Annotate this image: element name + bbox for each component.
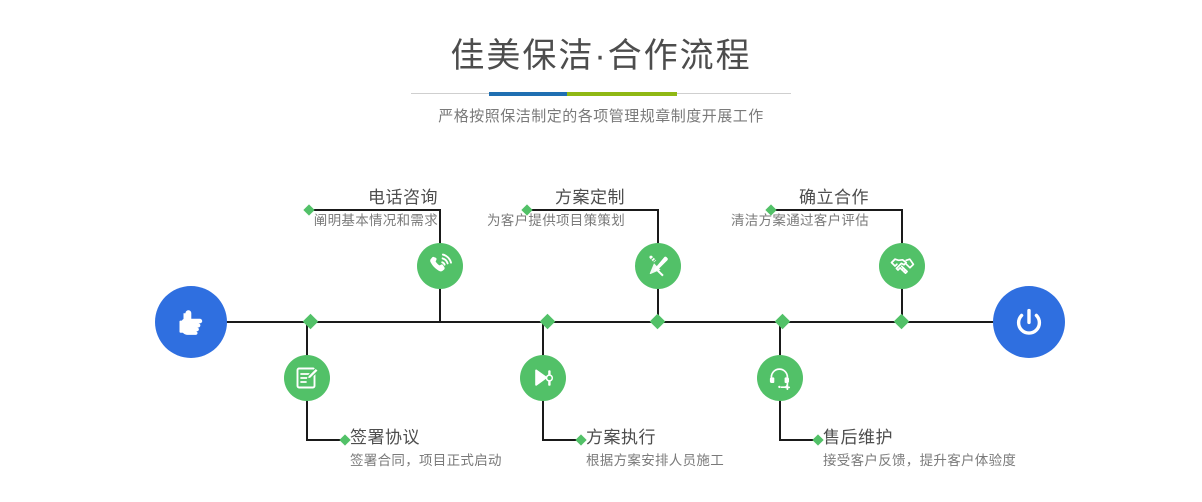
play-forward-icon [530, 365, 556, 391]
connector-horizontal-5 [772, 209, 903, 211]
handshake-icon [889, 253, 916, 280]
step-icon-4 [520, 355, 566, 401]
axis-diamond-3 [650, 314, 666, 330]
timeline-start-node [155, 286, 227, 358]
label-diamond-4 [575, 434, 586, 445]
step-desc-3: 为客户提供项目策策划 [487, 210, 625, 232]
step-icon-2 [284, 355, 330, 401]
step-icon-3 [635, 243, 681, 289]
power-icon [1009, 302, 1049, 342]
step-title-1: 电话咨询 [314, 186, 438, 210]
document-sign-icon [294, 365, 320, 391]
step-desc-2: 签署合同，项目正式启动 [350, 450, 502, 472]
process-timeline: 电话咨询 阐明基本情况和需求 [0, 0, 1202, 502]
step-title-6: 售后维护 [823, 426, 1016, 450]
step-icon-5 [879, 243, 925, 289]
step-desc-6: 接受客户反馈，提升客户体验度 [823, 450, 1016, 472]
phone-call-icon [426, 252, 454, 280]
connector-horizontal-1 [311, 209, 441, 211]
label-diamond-2 [339, 434, 350, 445]
step-title-2: 签署协议 [350, 426, 502, 450]
pencil-ruler-icon [645, 253, 671, 279]
timeline-end-node [993, 286, 1065, 358]
step-label-4: 方案执行 根据方案安排人员施工 [586, 426, 724, 472]
flow-diagram-page: 佳美保洁·合作流程 严格按照保洁制定的各项管理规章制度开展工作 [0, 0, 1202, 502]
axis-diamond-4 [775, 314, 791, 330]
connector-horizontal-3 [528, 209, 659, 211]
step-icon-6 [757, 355, 803, 401]
label-diamond-6 [812, 434, 823, 445]
step-title-3: 方案定制 [487, 186, 625, 210]
step-icon-1 [417, 243, 463, 289]
step-title-5: 确立合作 [731, 186, 869, 210]
pointing-hand-icon [171, 302, 211, 342]
step-desc-1: 阐明基本情况和需求 [314, 210, 438, 232]
step-desc-4: 根据方案安排人员施工 [586, 450, 724, 472]
axis-diamond-5 [894, 314, 910, 330]
step-label-2: 签署协议 签署合同，项目正式启动 [350, 426, 502, 472]
step-desc-5: 清洁方案通过客户评估 [731, 210, 869, 232]
step-label-6: 售后维护 接受客户反馈，提升客户体验度 [823, 426, 1016, 472]
headset-support-icon [767, 365, 793, 391]
step-title-4: 方案执行 [586, 426, 724, 450]
